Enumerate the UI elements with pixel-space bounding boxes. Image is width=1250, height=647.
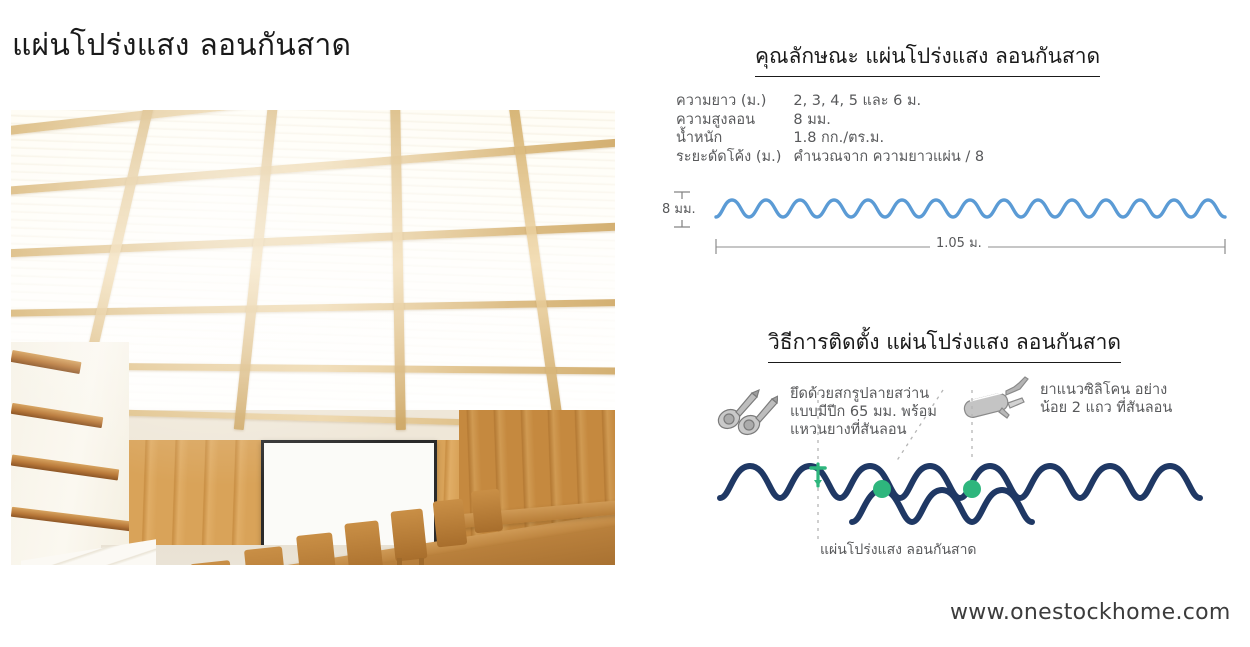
photo-chair <box>296 532 338 565</box>
sheet-lower-wave <box>720 466 1200 498</box>
spec-table: ความยาว (ม.) 2, 3, 4, 5 และ 6 ม. ความสูง… <box>676 93 984 167</box>
installation-diagram <box>700 370 1220 550</box>
page-title: แผ่นโปร่งแสง ลอนกันสาด <box>12 28 351 64</box>
website-url: www.onestockhome.com <box>950 600 1231 625</box>
spec-value: 2, 3, 4, 5 และ 6 ม. <box>793 93 984 112</box>
profile-width-label: 1.05 ม. <box>930 232 988 253</box>
sheet-wave <box>716 200 1225 217</box>
table-row: ความสูงลอน 8 มม. <box>676 112 984 131</box>
leader-silicone-left <box>896 390 943 462</box>
photo-left-wall <box>11 342 129 565</box>
profile-height-label: 8 มม. <box>662 198 696 219</box>
install-section-heading: วิธีการติดตั้ง แผ่นโปร่งแสง ลอนกันสาด <box>768 326 1121 363</box>
spec-label: ความยาว (ม.) <box>676 93 793 112</box>
spec-section-heading: คุณลักษณะ แผ่นโปร่งแสง ลอนกันสาด <box>755 40 1100 77</box>
photo-chair <box>433 499 468 548</box>
spec-label: ความสูงลอน <box>676 112 793 131</box>
spec-label: ระยะดัดโค้ง (ม.) <box>676 149 793 168</box>
product-photo <box>11 110 615 565</box>
photo-chair <box>419 558 424 565</box>
silicone-marker <box>963 480 981 498</box>
spec-value: 1.8 กก./ตร.ม. <box>793 130 984 149</box>
photo-chair <box>471 489 503 534</box>
leader-lines <box>818 390 972 542</box>
spec-value: คำนวณจาก ความยาวแผ่น / 8 <box>793 149 984 168</box>
photo-chair <box>390 508 427 561</box>
spec-value: 8 มม. <box>793 112 984 131</box>
photo-chair <box>397 558 402 565</box>
table-row: น้ำหนัก 1.8 กก./ตร.ม. <box>676 130 984 149</box>
sheet-caption: แผ่นโปร่งแสง ลอนกันสาด <box>820 541 977 559</box>
table-row: ระยะดัดโค้ง (ม.) คำนวณจาก ความยาวแผ่น / … <box>676 149 984 168</box>
table-row: ความยาว (ม.) 2, 3, 4, 5 และ 6 ม. <box>676 93 984 112</box>
photo-chair <box>244 546 288 565</box>
silicone-marker <box>873 480 891 498</box>
photo-chair <box>344 520 383 565</box>
spec-label: น้ำหนัก <box>676 130 793 149</box>
